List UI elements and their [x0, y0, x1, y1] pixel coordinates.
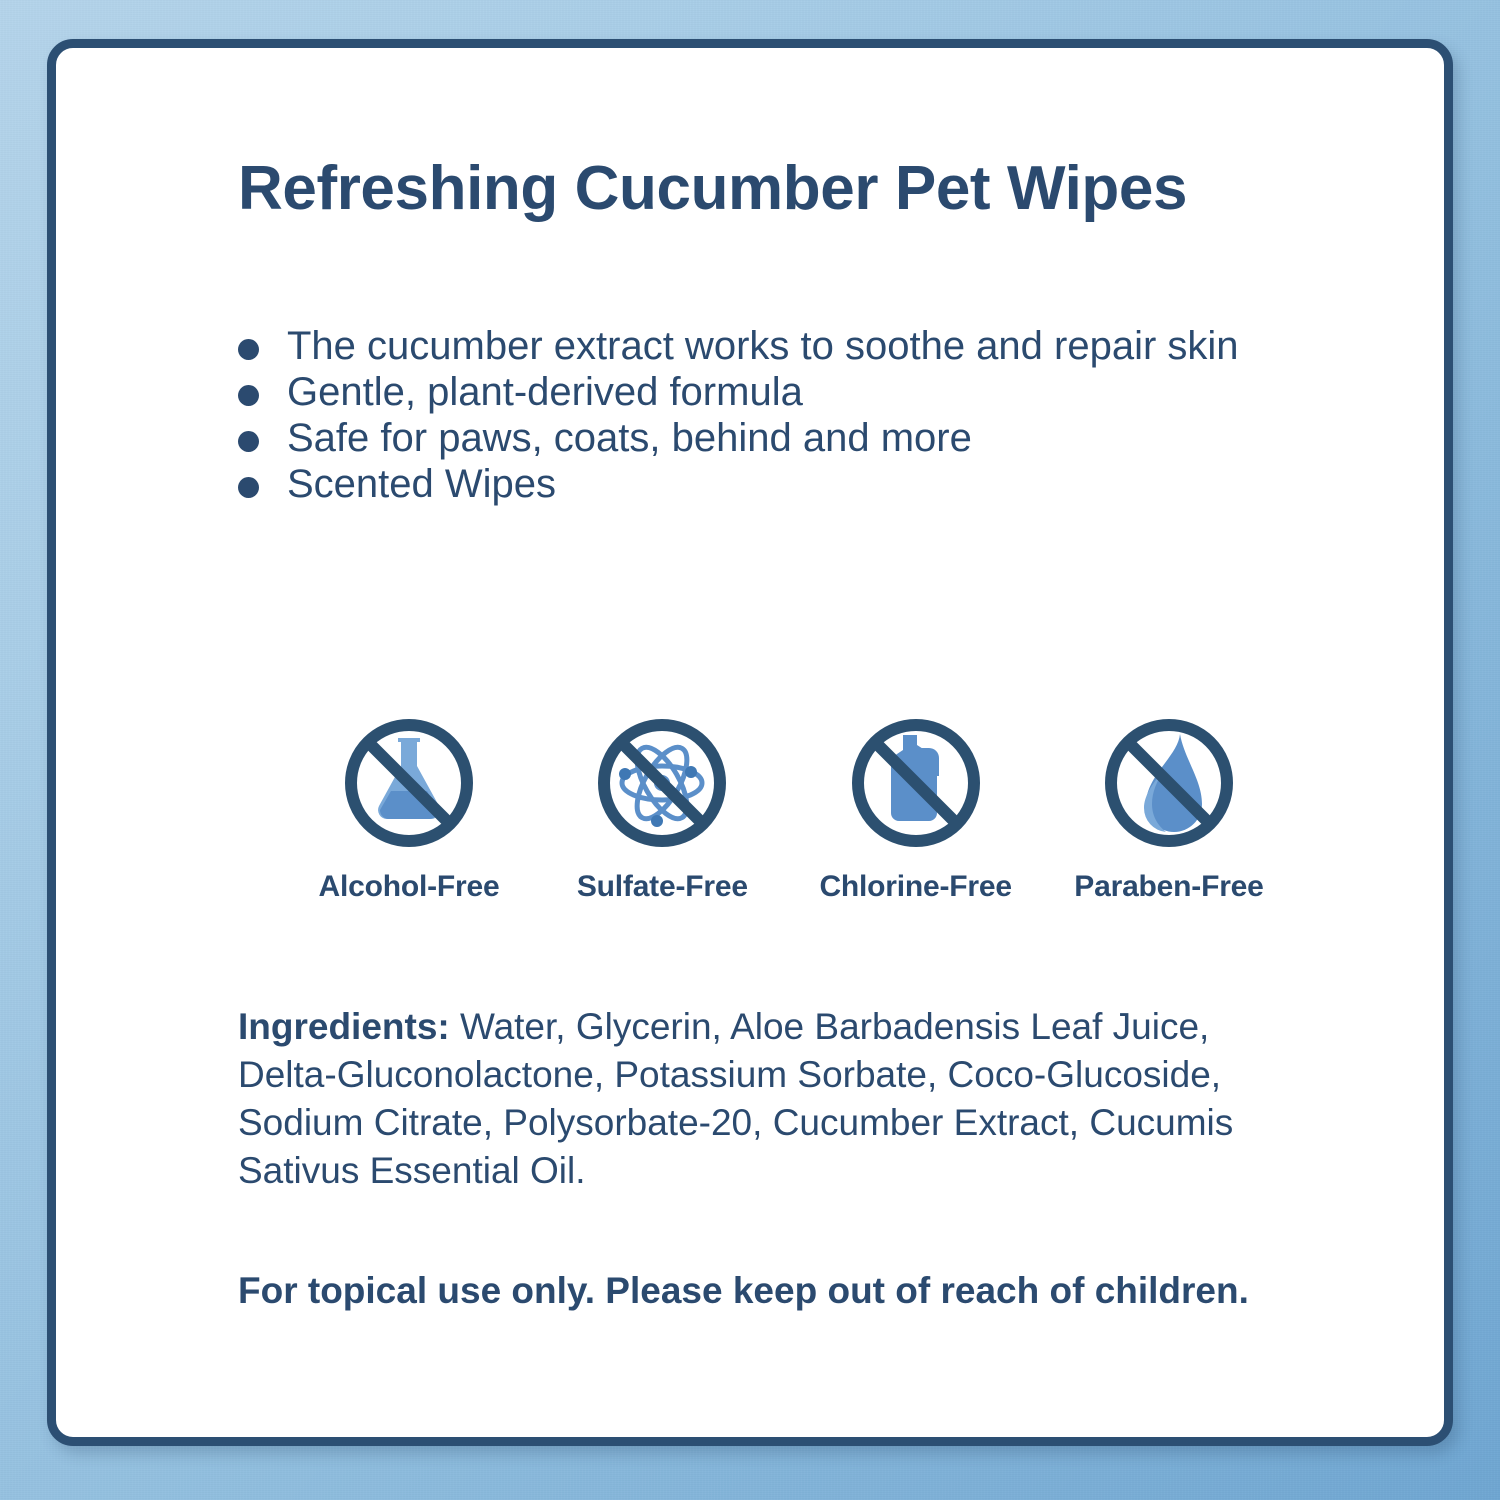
- badge-alcohol-free: Alcohol-Free: [309, 708, 509, 904]
- badge-paraben-free: Paraben-Free: [1069, 708, 1269, 904]
- bullet-dot-icon: [238, 477, 259, 498]
- list-item: Safe for paws, coats, behind and more: [238, 415, 1239, 461]
- ingredients-paragraph: Ingredients: Water, Glycerin, Aloe Barba…: [238, 1003, 1258, 1195]
- badge-label: Chlorine-Free: [819, 870, 1011, 904]
- feature-text: Gentle, plant-derived formula: [287, 369, 803, 415]
- free-from-badges: Alcohol-Free: [309, 708, 1269, 904]
- badge-label: Paraben-Free: [1074, 870, 1263, 904]
- no-atom-icon: [587, 708, 737, 858]
- feature-text: Scented Wipes: [287, 461, 556, 507]
- feature-text: Safe for paws, coats, behind and more: [287, 415, 972, 461]
- list-item: The cucumber extract works to soothe and…: [238, 323, 1239, 369]
- badge-label: Alcohol-Free: [319, 870, 500, 904]
- list-item: Scented Wipes: [238, 461, 1239, 507]
- no-jug-icon: [841, 708, 991, 858]
- page-title: Refreshing Cucumber Pet Wipes: [238, 153, 1187, 224]
- badge-label: Sulfate-Free: [577, 870, 748, 904]
- badge-chlorine-free: Chlorine-Free: [816, 708, 1016, 904]
- feature-list: The cucumber extract works to soothe and…: [238, 323, 1239, 507]
- warning-text: For topical use only. Please keep out of…: [238, 1270, 1249, 1312]
- list-item: Gentle, plant-derived formula: [238, 369, 1239, 415]
- bullet-dot-icon: [238, 385, 259, 406]
- bullet-dot-icon: [238, 339, 259, 360]
- no-droplet-icon: [1094, 708, 1244, 858]
- ingredients-heading: Ingredients:: [238, 1006, 450, 1047]
- card-inner: Refreshing Cucumber Pet Wipes The cucumb…: [56, 48, 1444, 1437]
- product-info-card: Refreshing Cucumber Pet Wipes The cucumb…: [47, 39, 1453, 1446]
- bullet-dot-icon: [238, 431, 259, 452]
- badge-sulfate-free: Sulfate-Free: [562, 708, 762, 904]
- no-flask-icon: [334, 708, 484, 858]
- feature-text: The cucumber extract works to soothe and…: [287, 323, 1239, 369]
